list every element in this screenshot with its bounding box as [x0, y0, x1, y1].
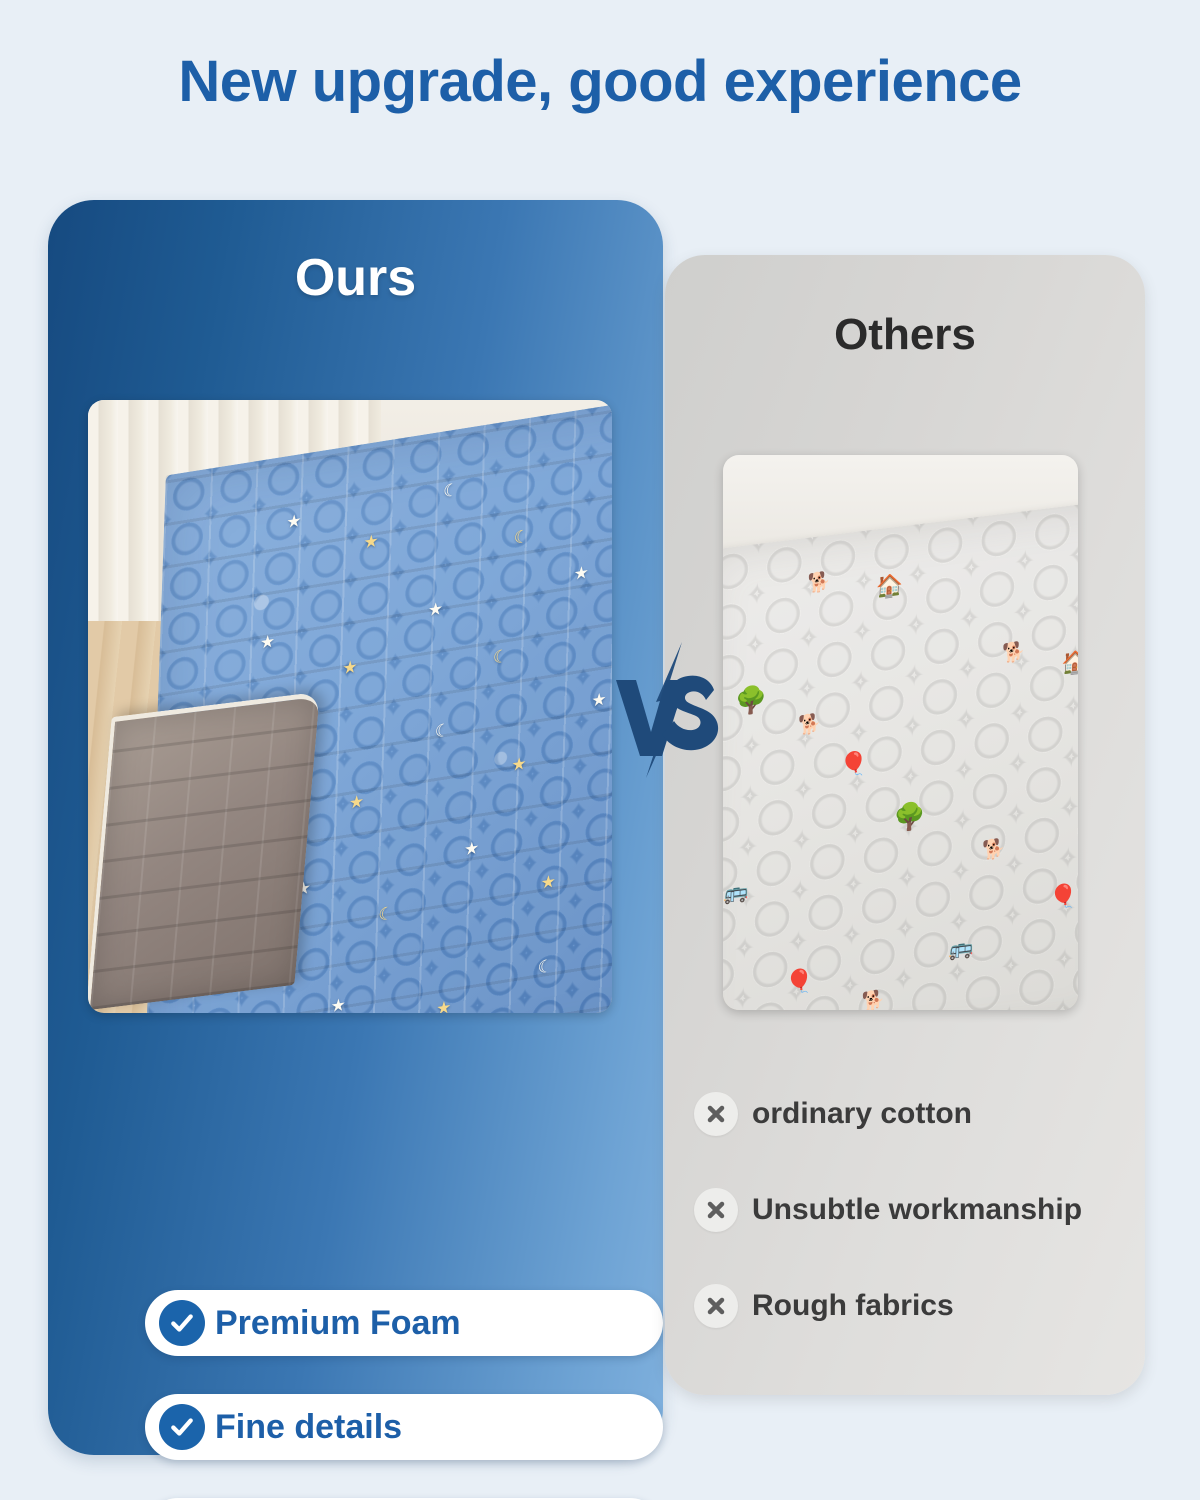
star-icon: ★ — [363, 532, 379, 552]
star-icon: ★ — [427, 599, 443, 619]
others-feature-1: ordinary cotton — [694, 1092, 972, 1136]
ours-feature-1: Premium Foam — [145, 1290, 663, 1356]
others-feature-1-label: ordinary cotton — [752, 1097, 972, 1131]
star-icon: ☾ — [443, 481, 459, 501]
others-photo-scene: 🐕 🏠 🌳 🐕 🎈 🐕 🏠 🌳 🚌 🐕 🎈 🚌 🐕 🎈 — [723, 455, 1078, 1010]
check-circle-icon — [159, 1404, 205, 1450]
x-circle-icon — [694, 1188, 738, 1232]
others-heading: Others — [665, 310, 1145, 360]
ours-panel: Ours ★ ★ ☾ ☾ ★ ★ ★ ☾ ★ ★ ★ — [48, 200, 663, 1455]
x-circle-icon — [694, 1092, 738, 1136]
page-title: New upgrade, good experience — [0, 52, 1200, 113]
comparison-infographic: New upgrade, good experience Ours ★ ★ ☾ … — [0, 0, 1200, 1500]
star-icon: ★ — [436, 998, 452, 1013]
moon-icon: ☾ — [537, 956, 553, 976]
ours-photo-scene: ★ ★ ☾ ☾ ★ ★ ★ ☾ ★ ★ ★ ☾ ★ ★ ★ ☾ ★ — [88, 400, 612, 1013]
dog-icon: 🐕 — [807, 572, 831, 594]
moon-icon: ☾ — [493, 647, 509, 667]
tree-icon: 🌳 — [892, 802, 925, 832]
ours-feature-1-label: Premium Foam — [215, 1304, 461, 1343]
check-circle-icon — [159, 1300, 205, 1346]
star-icon: ★ — [348, 792, 364, 812]
star-icon: ★ — [511, 754, 527, 774]
moon-icon: ☾ — [378, 904, 394, 924]
others-feature-3-label: Rough fabrics — [752, 1289, 954, 1323]
dog-icon: 🐕 — [797, 715, 821, 737]
ours-product-photo: ★ ★ ☾ ☾ ★ ★ ★ ☾ ★ ★ ★ ☾ ★ ★ ★ ☾ ★ — [88, 400, 612, 1013]
star-icon: ★ — [591, 689, 607, 709]
balloon-icon: 🎈 — [784, 968, 813, 995]
dog-icon: 🐕 — [981, 839, 1005, 861]
car-icon: 🚌 — [948, 938, 973, 961]
moon-icon: ☾ — [513, 527, 529, 547]
moon-icon: ☾ — [434, 721, 450, 741]
house-icon: 🏠 — [875, 573, 903, 599]
tree-icon: 🌳 — [734, 685, 767, 715]
star-icon: ★ — [540, 872, 556, 892]
star-icon: ★ — [330, 995, 346, 1013]
star-icon: ★ — [286, 512, 302, 532]
x-circle-icon — [694, 1284, 738, 1328]
dog-icon: 🐕 — [1001, 643, 1025, 665]
balloon-icon: 🎈 — [1048, 883, 1077, 910]
star-icon: ★ — [464, 839, 480, 859]
balloon-icon: 🎈 — [839, 751, 868, 778]
others-product-photo: 🐕 🏠 🌳 🐕 🎈 🐕 🏠 🌳 🚌 🐕 🎈 🚌 🐕 🎈 — [723, 455, 1078, 1010]
house-icon: 🏠 — [1061, 651, 1078, 677]
ours-feature-2: Fine details — [145, 1394, 663, 1460]
dog-icon: 🐕 — [860, 991, 884, 1010]
ours-heading: Ours — [48, 248, 663, 308]
star-icon: ★ — [573, 563, 589, 583]
others-feature-2: Unsubtle workmanship — [694, 1188, 1082, 1232]
others-feature-3: Rough fabrics — [694, 1284, 954, 1328]
folded-grey-underside-icon — [88, 691, 320, 1010]
star-icon: ★ — [342, 658, 358, 678]
star-icon: ★ — [260, 632, 276, 652]
others-feature-2-label: Unsubtle workmanship — [752, 1193, 1082, 1227]
vs-badge — [610, 640, 720, 780]
ours-feature-2-label: Fine details — [215, 1408, 402, 1447]
white-quilted-mat-icon: 🐕 🏠 🌳 🐕 🎈 🐕 🏠 🌳 🚌 🐕 🎈 🚌 🐕 🎈 — [723, 498, 1078, 1010]
car-icon: 🚌 — [723, 882, 748, 905]
